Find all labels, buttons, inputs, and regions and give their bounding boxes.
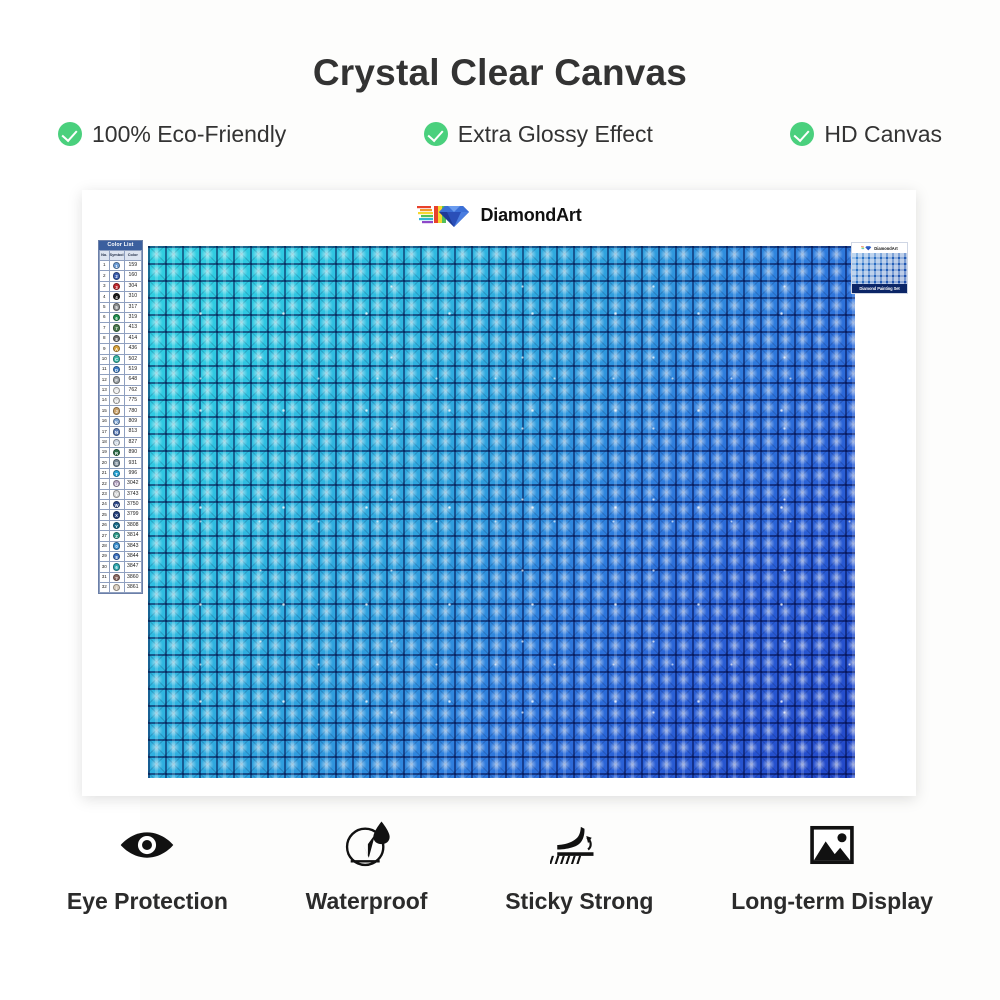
water-drop-check-icon	[338, 818, 396, 872]
column-header-color: Color	[124, 250, 141, 260]
table-row: 11159	[100, 260, 142, 270]
cell-color-code: 160	[124, 271, 141, 281]
cell-symbol: A	[109, 344, 124, 354]
cell-no: 27	[100, 531, 110, 541]
table-row: 66319	[100, 312, 142, 322]
cell-no: 20	[100, 458, 110, 468]
table-row: 19R890	[100, 448, 142, 458]
cell-color-code: 413	[124, 323, 141, 333]
benefit-sticky-strong: Sticky Strong	[505, 818, 653, 915]
table-row: 24W3750	[100, 499, 142, 509]
cell-no: 18	[100, 437, 110, 447]
cell-no: 22	[100, 479, 110, 489]
thumbnail-artwork	[852, 253, 907, 284]
feature-check-row: 100% Eco-Friendly Extra Glossy Effect HD…	[0, 95, 1000, 148]
canvas-preview-card: DiamondArt Color List No. Symbol Color 1…	[82, 190, 916, 796]
cell-color-code: 827	[124, 437, 141, 447]
cell-symbol: 6	[109, 562, 124, 572]
color-swatch-symbol: S	[113, 459, 120, 466]
cell-symbol: 7	[109, 323, 124, 333]
table-row: 31?3860	[100, 572, 142, 582]
cell-no: 8	[100, 333, 110, 343]
table-row: 21T996	[100, 468, 142, 478]
benefit-label: Waterproof	[306, 888, 428, 915]
thumbnail-brand-bar: DiamondArt	[852, 243, 907, 253]
color-swatch-symbol: V	[113, 490, 120, 497]
feature-label: HD Canvas	[824, 121, 942, 148]
color-swatch-symbol: N	[113, 428, 120, 435]
cell-no: 32	[100, 583, 110, 593]
cell-no: 28	[100, 541, 110, 551]
check-circle-icon	[58, 122, 82, 146]
product-info-page: Crystal Clear Canvas 100% Eco-Friendly E…	[0, 0, 1000, 1000]
table-row: 16K809	[100, 416, 142, 426]
table-row: 17N813	[100, 427, 142, 437]
cell-symbol: W	[109, 499, 124, 509]
color-swatch-symbol: 8	[113, 553, 120, 560]
cell-symbol: 2	[109, 271, 124, 281]
picture-frame-icon	[803, 818, 861, 872]
cell-color-code: 519	[124, 364, 141, 374]
table-row: 25X3799	[100, 510, 142, 520]
cell-no: 19	[100, 448, 110, 458]
cell-symbol: R	[109, 448, 124, 458]
table-row: 55317	[100, 302, 142, 312]
benefit-long-term-display: Long-term Display	[731, 818, 933, 915]
color-list-body: 1115922160333044431055317663197741388414…	[100, 260, 142, 593]
feature-item-hd-canvas: HD Canvas	[790, 121, 942, 148]
cell-symbol: N	[109, 427, 124, 437]
cell-no: 25	[100, 510, 110, 520]
table-row: 3063847	[100, 562, 142, 572]
cell-symbol: F	[109, 375, 124, 385]
cell-no: 9	[100, 344, 110, 354]
table-row: 14H775	[100, 396, 142, 406]
cell-color-code: 3799	[124, 510, 141, 520]
color-swatch-symbol: D	[113, 366, 120, 373]
cell-color-code: 159	[124, 260, 141, 270]
table-row: 20S931	[100, 458, 142, 468]
color-swatch-symbol: H	[113, 397, 120, 404]
cell-symbol: D	[109, 364, 124, 374]
color-swatch-symbol: F	[113, 376, 120, 383]
cell-no: 31	[100, 572, 110, 582]
cell-no: 1	[100, 260, 110, 270]
cell-no: 21	[100, 468, 110, 478]
table-row: 32/3861	[100, 583, 142, 593]
mosaic-sparkles	[148, 246, 855, 778]
adhesive-brush-icon	[550, 818, 608, 872]
color-swatch-symbol: Y	[113, 522, 120, 529]
table-row: 9A436	[100, 344, 142, 354]
benefit-waterproof: Waterproof	[306, 818, 428, 915]
cell-color-code: 3750	[124, 499, 141, 509]
feature-label: Extra Glossy Effect	[458, 121, 653, 148]
color-swatch-symbol: 2	[113, 272, 120, 279]
cell-no: 5	[100, 302, 110, 312]
product-box-thumbnail: DiamondArt Diamond Painting Set	[851, 242, 908, 294]
diamond-logo-icon	[417, 202, 473, 228]
cell-color-code: 3042	[124, 479, 141, 489]
table-row: 2803843	[100, 541, 142, 551]
color-list-table: No. Symbol Color 11159221603330444310553…	[99, 250, 142, 594]
cell-symbol: T	[109, 468, 124, 478]
color-swatch-symbol: G	[113, 387, 120, 394]
cell-no: 17	[100, 427, 110, 437]
cell-symbol: U	[109, 479, 124, 489]
diamond-mosaic-artwork	[148, 246, 855, 778]
color-swatch-symbol: X	[113, 511, 120, 518]
table-row: 23V3743	[100, 489, 142, 499]
cell-no: 6	[100, 312, 110, 322]
color-swatch-symbol: Z	[113, 532, 120, 539]
table-row: 77413	[100, 323, 142, 333]
table-row: 33304	[100, 281, 142, 291]
cell-symbol: X	[109, 510, 124, 520]
cell-symbol: 6	[109, 312, 124, 322]
cell-no: 4	[100, 292, 110, 302]
thumbnail-caption: Diamond Painting Set	[852, 284, 907, 293]
cell-symbol: Z	[109, 531, 124, 541]
cell-color-code: 304	[124, 281, 141, 291]
brand-logo: DiamondArt	[82, 202, 916, 228]
color-swatch-symbol: K	[113, 418, 120, 425]
table-row: 26Y3808	[100, 520, 142, 530]
cell-symbol: H	[109, 396, 124, 406]
cell-symbol: Q	[109, 437, 124, 447]
column-header-symbol: Symbol	[109, 250, 124, 260]
table-row: 13G762	[100, 385, 142, 395]
color-swatch-symbol: 5	[113, 303, 120, 310]
cell-color-code: 317	[124, 302, 141, 312]
cell-symbol: K	[109, 416, 124, 426]
thumbnail-brand-name: DiamondArt	[874, 246, 897, 251]
cell-symbol: 5	[109, 302, 124, 312]
cell-color-code: 3860	[124, 572, 141, 582]
color-swatch-symbol: 8	[113, 335, 120, 342]
cell-color-code: 3847	[124, 562, 141, 572]
cell-color-code: 3861	[124, 583, 141, 593]
cell-no: 2	[100, 271, 110, 281]
feature-label: 100% Eco-Friendly	[92, 121, 286, 148]
cell-color-code: 813	[124, 427, 141, 437]
cell-no: 14	[100, 396, 110, 406]
color-list-title: Color List	[99, 241, 142, 250]
cell-color-code: 436	[124, 344, 141, 354]
check-circle-icon	[790, 122, 814, 146]
benefits-row: Eye Protection Waterproof	[0, 818, 1000, 915]
cell-no: 24	[100, 499, 110, 509]
cell-symbol: J	[109, 406, 124, 416]
cell-no: 15	[100, 406, 110, 416]
column-header-no: No.	[100, 250, 110, 260]
table-row: 27Z3814	[100, 531, 142, 541]
color-swatch-symbol: J	[113, 407, 120, 414]
color-swatch-symbol: 0	[113, 542, 120, 549]
cell-symbol: 3	[109, 281, 124, 291]
benefit-label: Long-term Display	[731, 888, 933, 915]
cell-color-code: 3808	[124, 520, 141, 530]
color-swatch-symbol: 4	[113, 293, 120, 300]
color-swatch-symbol: U	[113, 480, 120, 487]
cell-symbol: /	[109, 583, 124, 593]
cell-color-code: 996	[124, 468, 141, 478]
cell-color-code: 3814	[124, 531, 141, 541]
color-swatch-symbol: C	[113, 355, 120, 362]
color-swatch-symbol: 3	[113, 283, 120, 290]
eye-icon	[118, 818, 176, 872]
cell-symbol: S	[109, 458, 124, 468]
color-swatch-symbol: ?	[113, 574, 120, 581]
table-row: 15J780	[100, 406, 142, 416]
cell-no: 11	[100, 364, 110, 374]
cell-color-code: 414	[124, 333, 141, 343]
cell-no: 29	[100, 551, 110, 561]
color-swatch-symbol: A	[113, 345, 120, 352]
color-swatch-symbol: 6	[113, 314, 120, 321]
benefit-eye-protection: Eye Protection	[67, 818, 228, 915]
feature-item-glossy: Extra Glossy Effect	[424, 121, 653, 148]
cell-symbol: 8	[109, 333, 124, 343]
color-swatch-symbol: Q	[113, 439, 120, 446]
cell-color-code: 3843	[124, 541, 141, 551]
color-swatch-symbol: 1	[113, 262, 120, 269]
table-row: 2983844	[100, 551, 142, 561]
cell-color-code: 319	[124, 312, 141, 322]
table-row: 88414	[100, 333, 142, 343]
benefit-label: Sticky Strong	[505, 888, 653, 915]
cell-color-code: 3844	[124, 551, 141, 561]
cell-no: 26	[100, 520, 110, 530]
cell-symbol: 0	[109, 541, 124, 551]
table-row: 12F648	[100, 375, 142, 385]
cell-color-code: 310	[124, 292, 141, 302]
color-swatch-symbol: 6	[113, 563, 120, 570]
cell-no: 30	[100, 562, 110, 572]
page-title: Crystal Clear Canvas	[0, 0, 1000, 95]
cell-no: 3	[100, 281, 110, 291]
cell-color-code: 775	[124, 396, 141, 406]
cell-color-code: 502	[124, 354, 141, 364]
color-swatch-symbol: R	[113, 449, 120, 456]
check-circle-icon	[424, 122, 448, 146]
table-row: 22U3042	[100, 479, 142, 489]
table-row: 18Q827	[100, 437, 142, 447]
cell-color-code: 648	[124, 375, 141, 385]
cell-symbol: 4	[109, 292, 124, 302]
cell-symbol: ?	[109, 572, 124, 582]
table-row: 22160	[100, 271, 142, 281]
cell-color-code: 762	[124, 385, 141, 395]
table-row: 44310	[100, 292, 142, 302]
cell-symbol: Y	[109, 520, 124, 530]
table-header-row: No. Symbol Color	[100, 250, 142, 260]
color-list-panel: Color List No. Symbol Color 111592216033…	[98, 240, 143, 594]
cell-color-code: 780	[124, 406, 141, 416]
color-swatch-symbol: T	[113, 470, 120, 477]
cell-color-code: 931	[124, 458, 141, 468]
feature-item-eco-friendly: 100% Eco-Friendly	[58, 121, 286, 148]
cell-symbol: G	[109, 385, 124, 395]
color-swatch-symbol: W	[113, 501, 120, 508]
cell-no: 10	[100, 354, 110, 364]
cell-color-code: 890	[124, 448, 141, 458]
cell-color-code: 3743	[124, 489, 141, 499]
cell-no: 7	[100, 323, 110, 333]
brand-name: DiamondArt	[481, 205, 582, 226]
table-row: 10C502	[100, 354, 142, 364]
benefit-label: Eye Protection	[67, 888, 228, 915]
cell-no: 23	[100, 489, 110, 499]
table-row: 11D519	[100, 364, 142, 374]
cell-symbol: 1	[109, 260, 124, 270]
diamond-logo-icon	[861, 245, 872, 251]
cell-symbol: V	[109, 489, 124, 499]
cell-color-code: 809	[124, 416, 141, 426]
cell-no: 12	[100, 375, 110, 385]
cell-symbol: 8	[109, 551, 124, 561]
cell-symbol: C	[109, 354, 124, 364]
color-swatch-symbol: /	[113, 584, 120, 591]
color-swatch-symbol: 7	[113, 324, 120, 331]
cell-no: 16	[100, 416, 110, 426]
cell-no: 13	[100, 385, 110, 395]
